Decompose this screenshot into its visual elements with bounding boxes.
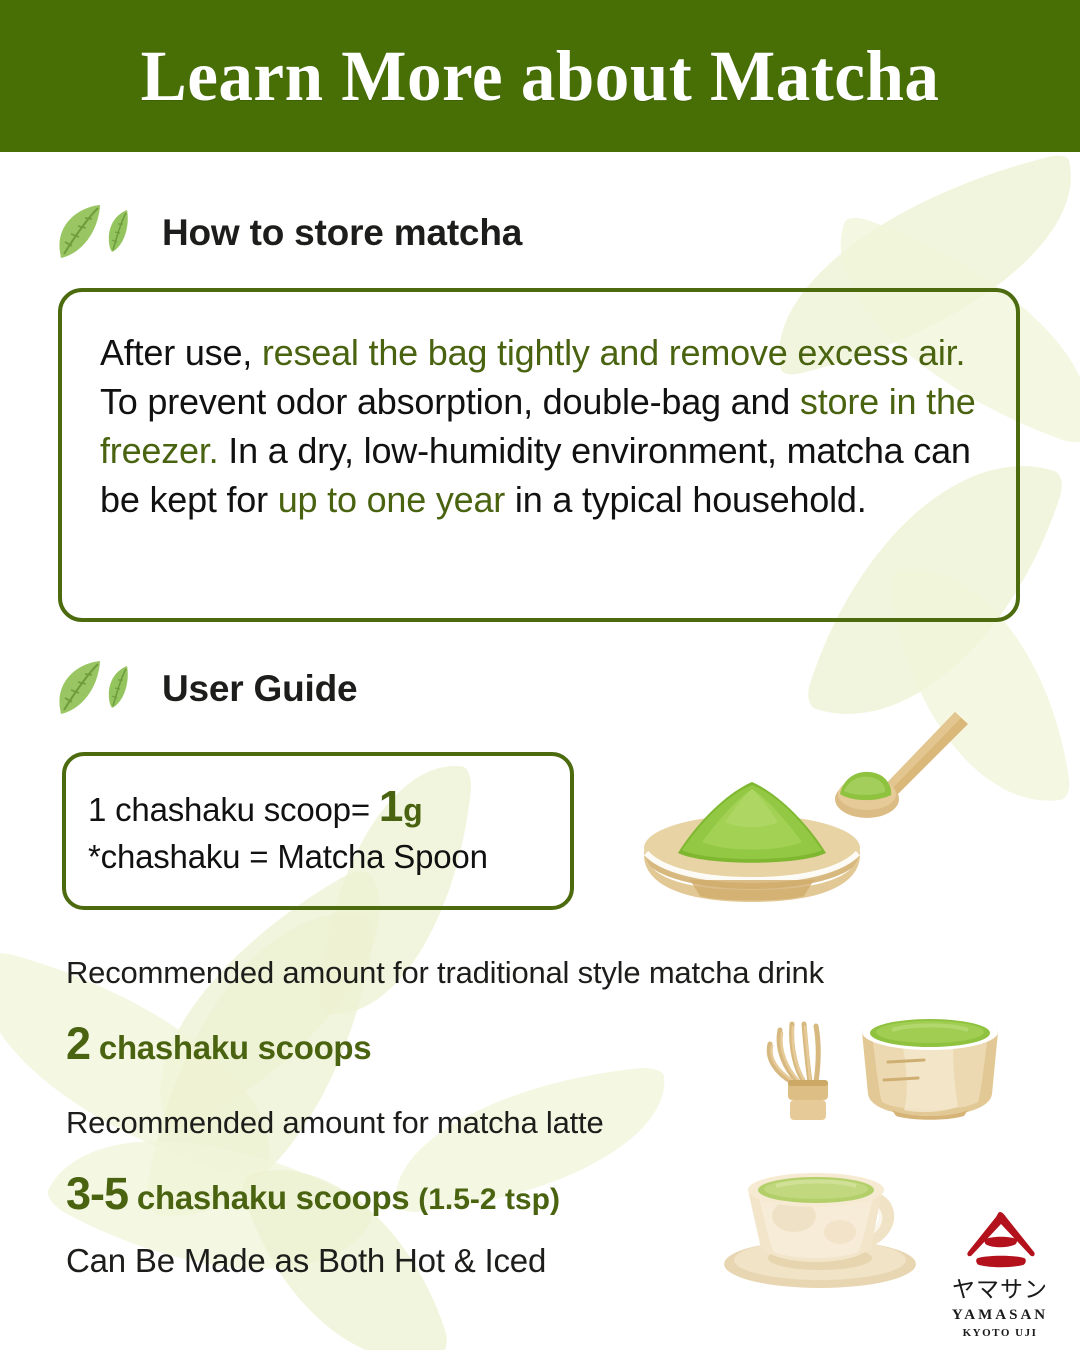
yamasan-mark-icon (930, 1208, 1070, 1270)
closing-line: Can Be Made as Both Hot & Iced (66, 1242, 546, 1280)
section-heading-store: How to store matcha (52, 202, 522, 264)
guide-gram-number: 1 (379, 782, 403, 831)
recommendation-unit: chashaku scoops (90, 1029, 371, 1066)
paragraph-run-highlight: reseal the bag tightly and remove excess… (262, 332, 965, 373)
paragraph-run: To prevent odor absorption, double-bag a… (100, 381, 800, 422)
logo-romaji-text: YAMASAN (930, 1307, 1070, 1324)
chasen-whisk-and-chawan-illustration (752, 1002, 1037, 1122)
guide-footnote: *chashaku = Matcha Spoon (88, 838, 488, 876)
leaf-icon (52, 202, 136, 264)
brand-logo: ヤマサン YAMASAN KYOTO UJI (930, 1208, 1070, 1339)
recommendation-number: 2 (66, 1018, 90, 1069)
paragraph-run: After use, (100, 332, 262, 373)
recommendation-number: 3-5 (66, 1168, 128, 1219)
guide-conversion-line: 1 chashaku scoop= 1g (88, 782, 423, 832)
section-title: How to store matcha (162, 212, 522, 254)
recommendation-value: 2 chashaku scoops (66, 1018, 371, 1070)
matcha-bowl-and-chashaku-illustration (630, 690, 1030, 920)
infographic-page: Learn More about Matcha How to store mat… (0, 0, 1080, 1350)
recommendation-unit: chashaku scoops (128, 1179, 418, 1216)
page-title: Learn More about Matcha (141, 35, 940, 118)
recommendation-value: 3-5 chashaku scoops (1.5-2 tsp) (66, 1168, 560, 1220)
paragraph-run: in a typical household. (505, 479, 866, 520)
paragraph-run-highlight: up to one year (278, 479, 505, 520)
guide-prefix: 1 chashaku scoop= (88, 791, 379, 828)
recommendation-label: Recommended amount for traditional style… (66, 955, 824, 991)
logo-japanese-text: ヤマサン (930, 1279, 1070, 1302)
matcha-latte-cup-illustration (712, 1152, 947, 1292)
section-title: User Guide (162, 668, 357, 710)
page-header: Learn More about Matcha (0, 0, 1080, 152)
leaf-icon (52, 658, 136, 720)
guide-gram-unit: g (403, 792, 422, 828)
store-paragraph: After use, reseal the bag tightly and re… (100, 328, 990, 524)
recommendation-label: Recommended amount for matcha latte (66, 1105, 604, 1141)
logo-subtitle-text: KYOTO UJI (930, 1327, 1070, 1339)
recommendation-note: (1.5-2 tsp) (418, 1183, 560, 1216)
section-heading-user-guide: User Guide (52, 658, 357, 720)
